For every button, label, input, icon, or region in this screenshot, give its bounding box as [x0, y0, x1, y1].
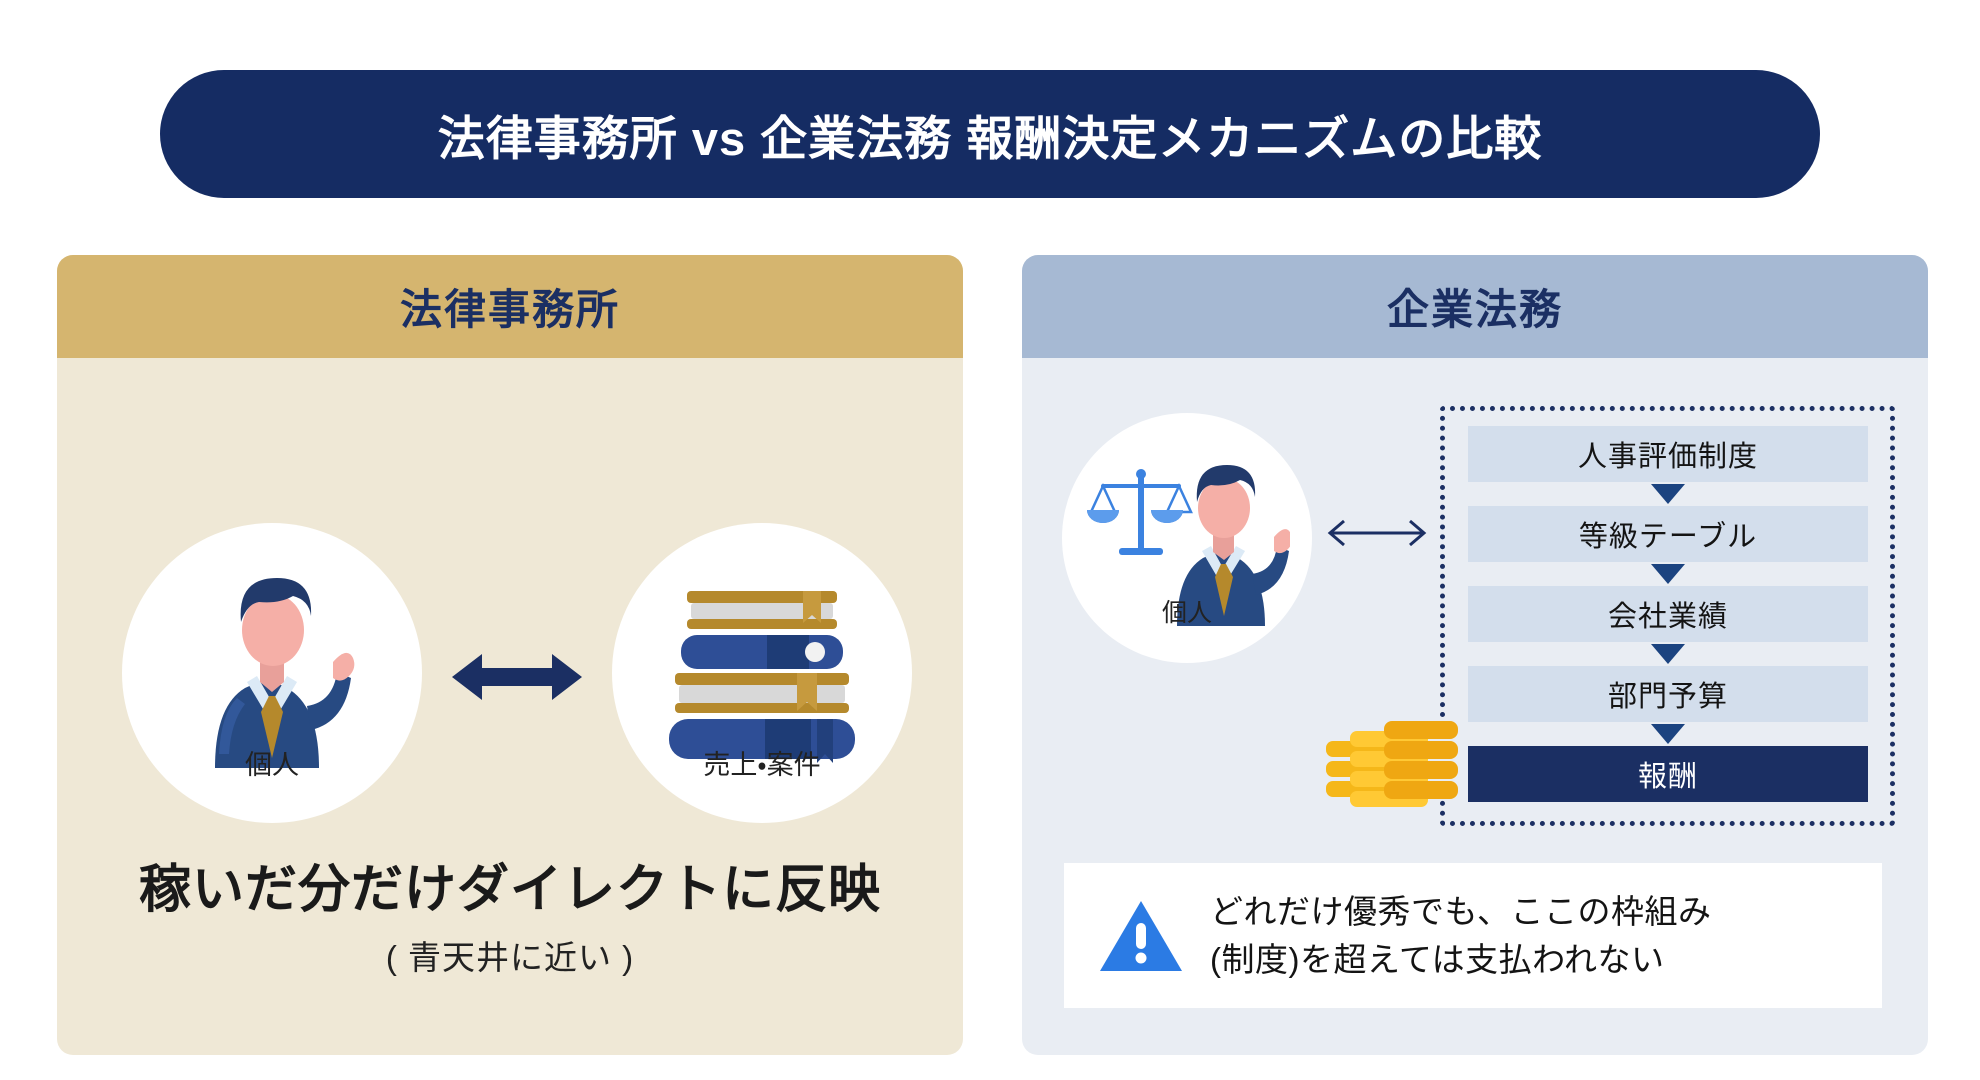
- law-firm-panel-title: 法律事務所: [400, 276, 620, 337]
- compensation-warning-line2: (制度)を超えては支払われない: [1210, 936, 1712, 984]
- flow-arrow-1: [1468, 482, 1868, 506]
- page-title-bar: 法律事務所 vs 企業法務 報酬決定メカニズムの比較: [160, 70, 1820, 198]
- law-firm-panel-header: 法律事務所: [57, 255, 963, 358]
- law-firm-summary-main: 稼いだ分だけダイレクトに反映: [57, 858, 963, 923]
- flow-arrow-3: [1468, 642, 1868, 666]
- flow-step-grade-table[interactable]: 等級テーブル: [1468, 506, 1868, 562]
- compensation-warning-line1: どれだけ優秀でも、ここの枠組み: [1210, 888, 1712, 936]
- triangle-down-icon: [1651, 644, 1685, 664]
- bidirectional-link-arrow-icon: [1322, 513, 1432, 553]
- flow-step-department-budget[interactable]: 部門予算: [1468, 666, 1868, 722]
- coin-stack-icon: [1322, 713, 1487, 808]
- corporate-legal-panel: 企業法務: [1022, 255, 1928, 1055]
- flow-step-hr-evaluation[interactable]: 人事評価制度: [1468, 426, 1868, 482]
- corporate-legal-panel-title: 企業法務: [1387, 276, 1563, 337]
- flow-step-label: 会社業績: [1608, 593, 1728, 635]
- law-firm-person-caption: 個人: [122, 743, 422, 782]
- scales-icon: [1087, 469, 1191, 555]
- revenue-cases-caption: 売上・案件: [612, 743, 912, 782]
- triangle-down-icon: [1651, 484, 1685, 504]
- triangle-down-icon: [1651, 564, 1685, 584]
- flow-step-compensation[interactable]: 報酬: [1468, 746, 1868, 802]
- corporate-legal-panel-header: 企業法務: [1022, 255, 1928, 358]
- law-firm-summary-sub: ( 青天井に近い ): [57, 931, 963, 979]
- flow-step-label: 部門予算: [1608, 673, 1728, 715]
- corporate-person-caption: 個人: [1062, 593, 1312, 629]
- triangle-down-icon: [1651, 724, 1685, 744]
- compensation-warning-note: どれだけ優秀でも、ここの枠組み (制度)を超えては支払われない: [1064, 863, 1882, 1008]
- flow-arrow-2: [1468, 562, 1868, 586]
- law-firm-panel-body: 個人: [57, 358, 963, 1055]
- warning-triangle-icon: [1098, 897, 1184, 975]
- law-firm-summary: 稼いだ分だけダイレクトに反映 ( 青天井に近い ): [57, 858, 963, 979]
- compensation-warning-text: どれだけ優秀でも、ここの枠組み (制度)を超えては支払われない: [1210, 888, 1712, 984]
- flow-step-company-performance[interactable]: 会社業績: [1468, 586, 1868, 642]
- compensation-flow: 人事評価制度 等級テーブル 会社業績 部門予算 報酬: [1468, 426, 1868, 802]
- law-firm-panel: 法律事務所: [57, 255, 963, 1055]
- flow-step-label: 報酬: [1638, 753, 1698, 795]
- corporate-legal-panel-body: 個人 人事評価制度 等級テーブル 会社業績 部門予算: [1022, 358, 1928, 1055]
- page-title: 法律事務所 vs 企業法務 報酬決定メカニズムの比較: [438, 100, 1542, 169]
- bidirectional-arrow-icon: [452, 648, 582, 706]
- flow-step-label: 等級テーブル: [1579, 513, 1757, 555]
- flow-arrow-4: [1468, 722, 1868, 746]
- flow-step-label: 人事評価制度: [1578, 433, 1758, 475]
